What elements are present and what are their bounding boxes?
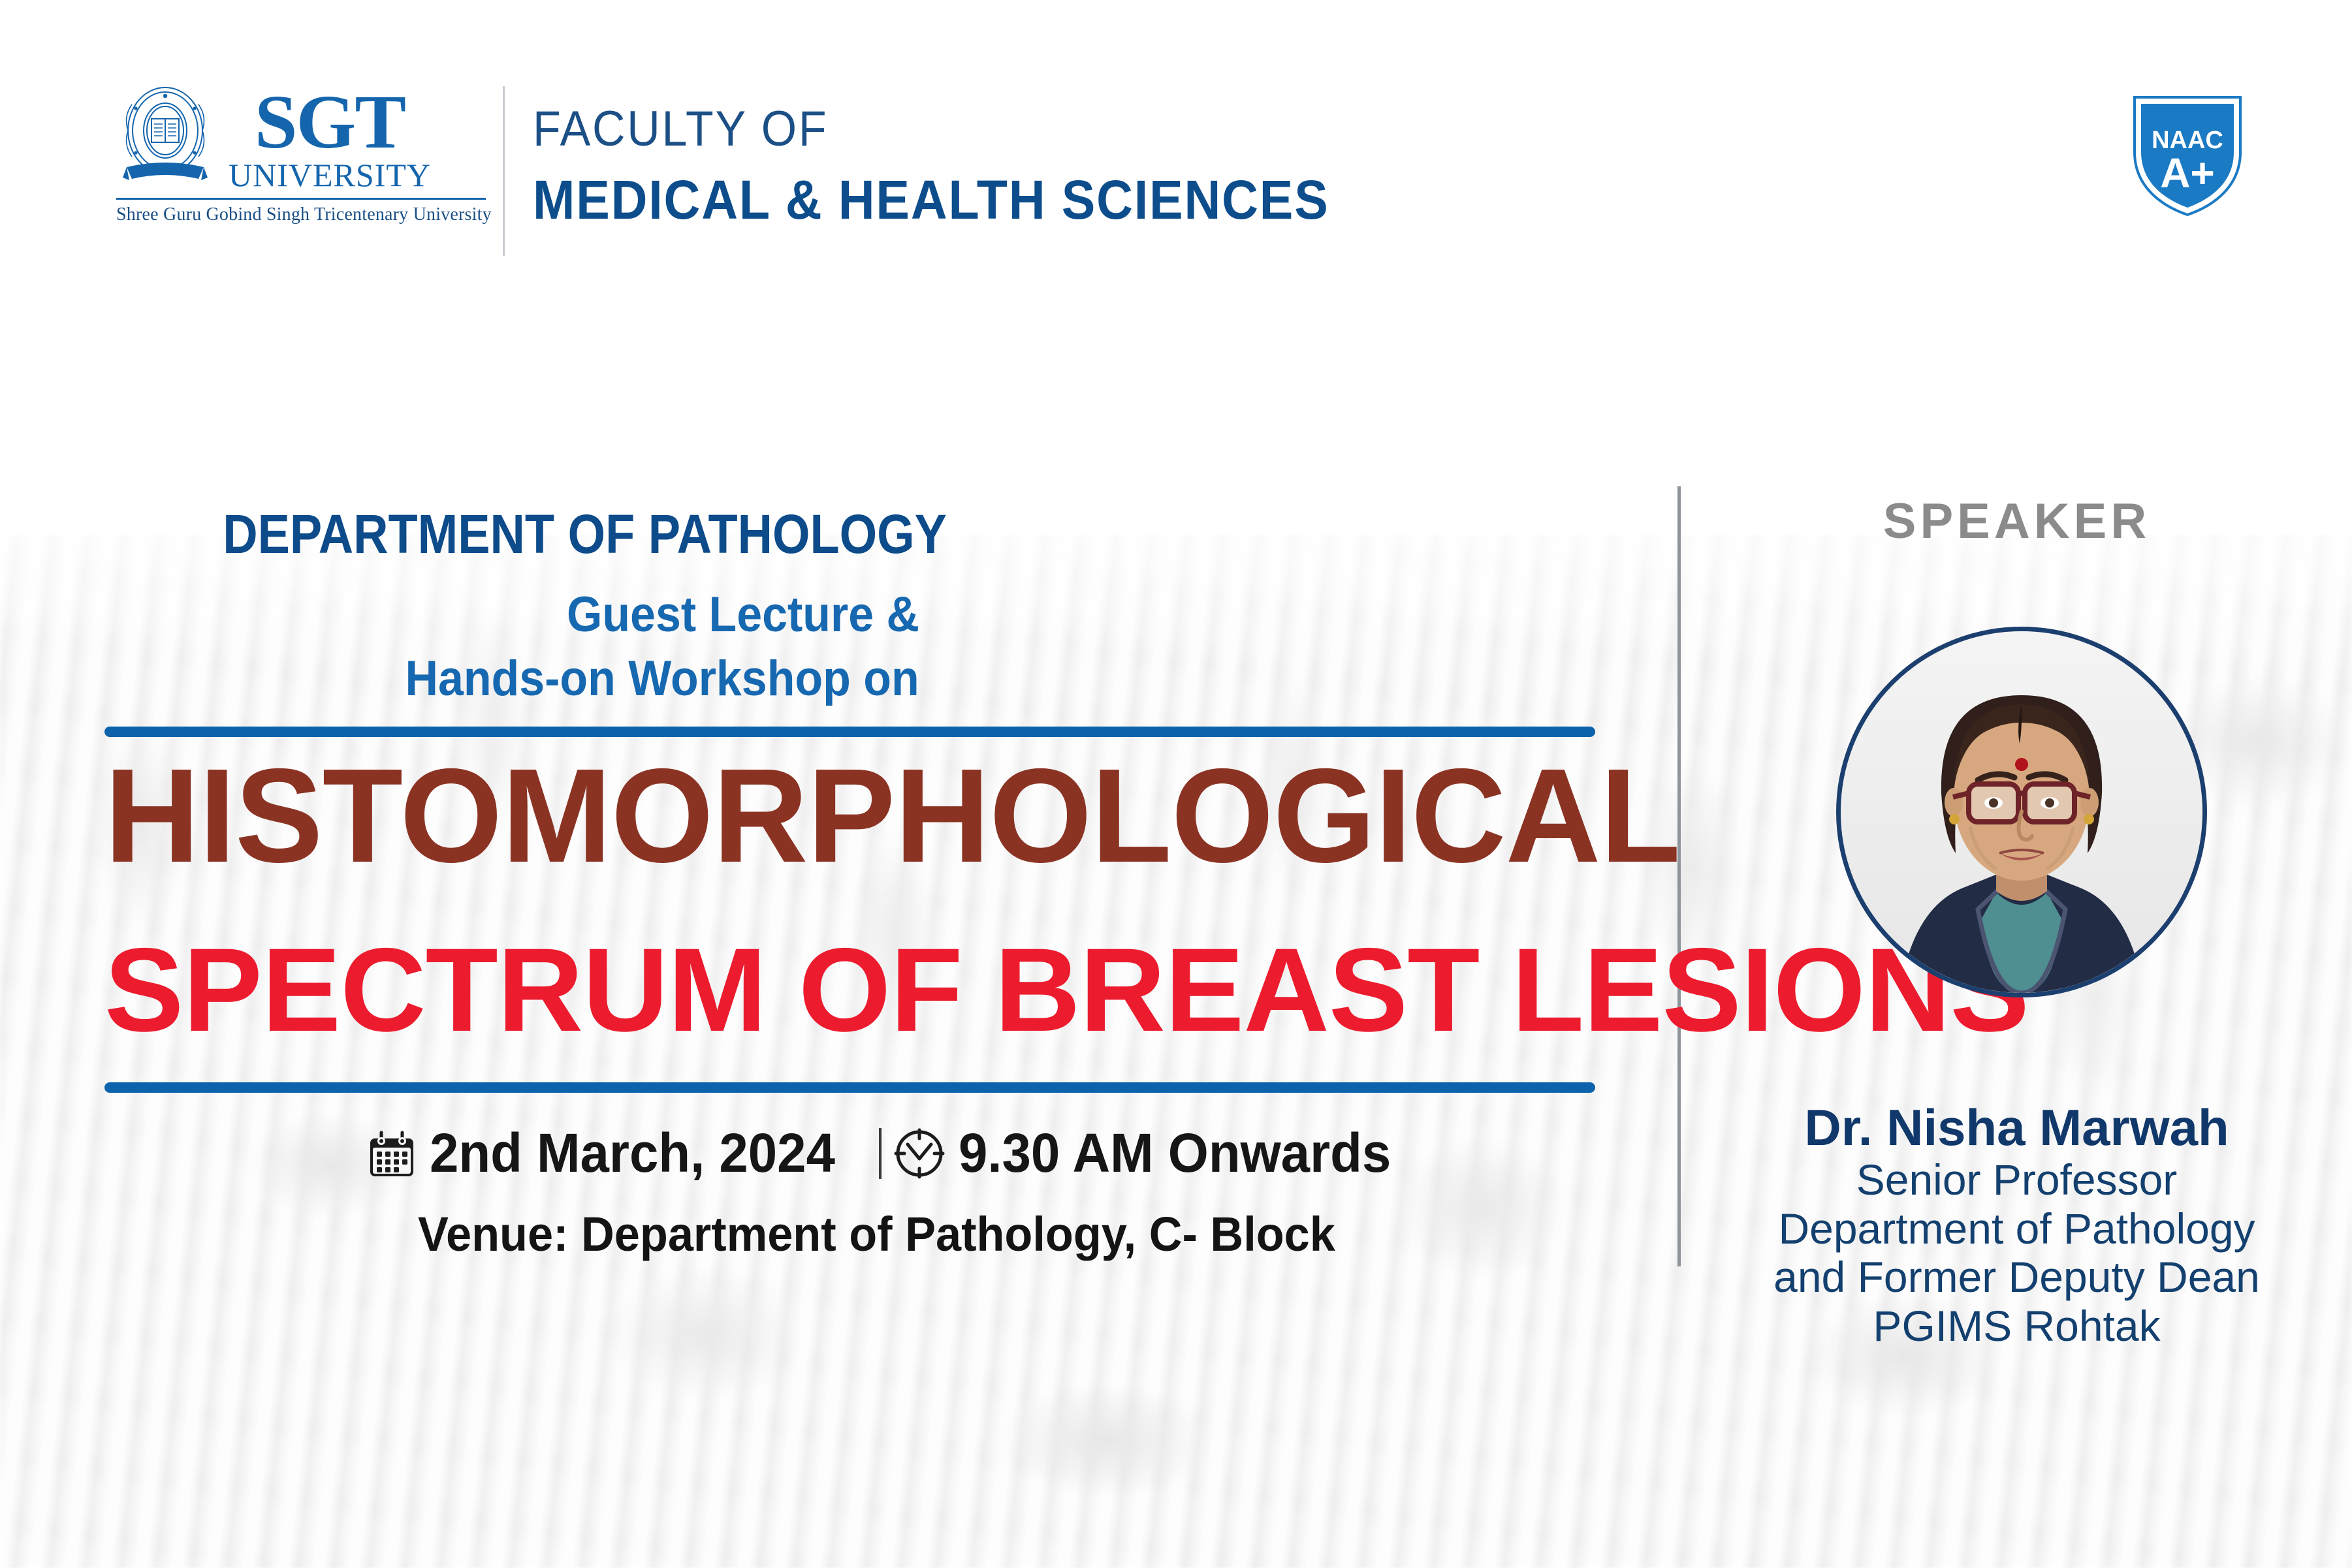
- speaker-avatar: [1836, 627, 2207, 997]
- title-rule-bottom: [104, 1082, 1595, 1093]
- speaker-detail-line: Department of Pathology: [1681, 1204, 2352, 1253]
- clock-icon: [892, 1126, 947, 1181]
- event-subtitle-line-1: Guest Lecture &: [567, 586, 919, 643]
- speaker-detail-line: and Former Deputy Dean: [1681, 1253, 2352, 1302]
- event-subtitle-line-2: Hands-on Workshop on: [405, 650, 919, 707]
- date-time-row: 2nd March, 2024 9.30 A: [366, 1121, 1425, 1185]
- speaker-label: SPEAKER: [1681, 493, 2352, 550]
- speaker-detail-line: Senior Professor: [1681, 1155, 2352, 1204]
- event-date: 2nd March, 2024: [430, 1121, 835, 1185]
- speaker-detail-line: PGIMS Rohtak: [1681, 1302, 2352, 1351]
- date-time-separator: [879, 1128, 882, 1179]
- event-venue: Venue: Department of Pathology, C- Block: [418, 1206, 1335, 1262]
- calendar-icon: [366, 1127, 418, 1180]
- event-title-line-1: HISTOMORPHOLOGICAL: [104, 749, 1578, 883]
- event-title-line-2: SPECTRUM OF BREAST LESIONS: [104, 930, 1600, 1049]
- title-rule-top: [104, 727, 1595, 737]
- poster-canvas: SGT UNIVERSITY Shree Guru Gobind Singh T…: [0, 0, 2352, 1568]
- speaker-details: Senior Professor Department of Pathology…: [1681, 1155, 2352, 1350]
- speaker-portrait: [1841, 631, 2202, 993]
- speaker-name: Dr. Nisha Marwah: [1681, 1098, 2352, 1157]
- event-details-column: DEPARTMENT OF PATHOLOGY Guest Lecture & …: [0, 0, 1672, 1568]
- event-time: 9.30 AM Onwards: [959, 1121, 1391, 1185]
- department-heading: DEPARTMENT OF PATHOLOGY: [223, 503, 947, 566]
- speaker-column: SPEAKER: [1681, 0, 2352, 1568]
